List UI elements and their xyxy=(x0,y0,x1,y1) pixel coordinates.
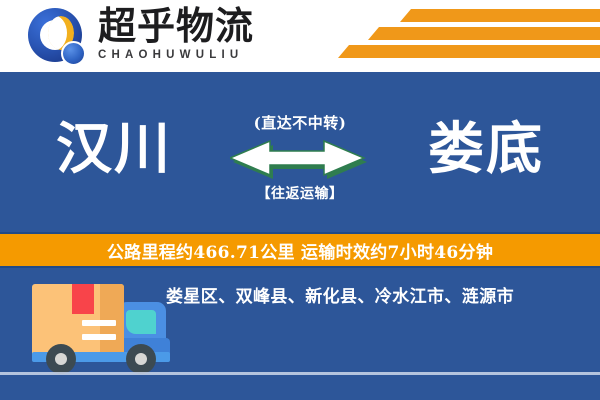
company-logo xyxy=(28,8,90,66)
brand-block: 超乎物流 CHAOHUWULIU xyxy=(98,6,348,61)
stats-summary-text: 公路里程约466.71公里 运输时效约7小时46分钟 xyxy=(107,238,493,263)
logo-dot-icon xyxy=(61,41,86,66)
logistics-route-poster: 超乎物流 CHAOHUWULIU 汉川 (直达不中转) xyxy=(0,0,600,400)
truck-window xyxy=(126,310,156,334)
truck-cargo-label xyxy=(72,284,94,314)
truck-hub-front xyxy=(135,353,147,365)
route-middle-block: (直达不中转) 【往返运输】 xyxy=(230,112,370,220)
stats-bar: 公路里程约466.71公里 运输时效约7小时46分钟 xyxy=(0,232,600,268)
truck-stripe-1 xyxy=(82,320,116,326)
header-bar: 超乎物流 CHAOHUWULIU xyxy=(0,0,600,72)
double-arrow-icon xyxy=(230,137,370,181)
truck-wheel-front xyxy=(126,344,156,374)
stripe-1 xyxy=(400,9,600,22)
direct-note-label: (直达不中转) xyxy=(230,112,370,133)
stripe-2 xyxy=(368,27,600,40)
header-stripes-decoration xyxy=(338,8,600,66)
truck-stripe-2 xyxy=(82,334,116,340)
coverage-areas-text: 娄星区、双峰县、新化县、冷水江市、涟源市 xyxy=(166,282,586,307)
roundtrip-note-label: 【往返运输】 xyxy=(230,183,370,203)
truck-hub-rear xyxy=(55,353,67,365)
origin-city: 汉川 xyxy=(56,118,172,180)
double-arrow-svg xyxy=(230,137,370,181)
destination-city: 娄底 xyxy=(428,118,544,180)
ground-line xyxy=(0,372,600,375)
coverage-section: 娄星区、双峰县、新化县、冷水江市、涟源市 xyxy=(0,268,600,400)
brand-name-en: CHAOHUWULIU xyxy=(98,49,348,61)
truck-wheel-rear xyxy=(46,344,76,374)
route-section: 汉川 (直达不中转) 【往返运输】 娄底 xyxy=(0,72,600,232)
delivery-truck-icon xyxy=(22,278,182,374)
brand-name-cn: 超乎物流 xyxy=(98,6,348,46)
stripe-3 xyxy=(338,45,600,58)
